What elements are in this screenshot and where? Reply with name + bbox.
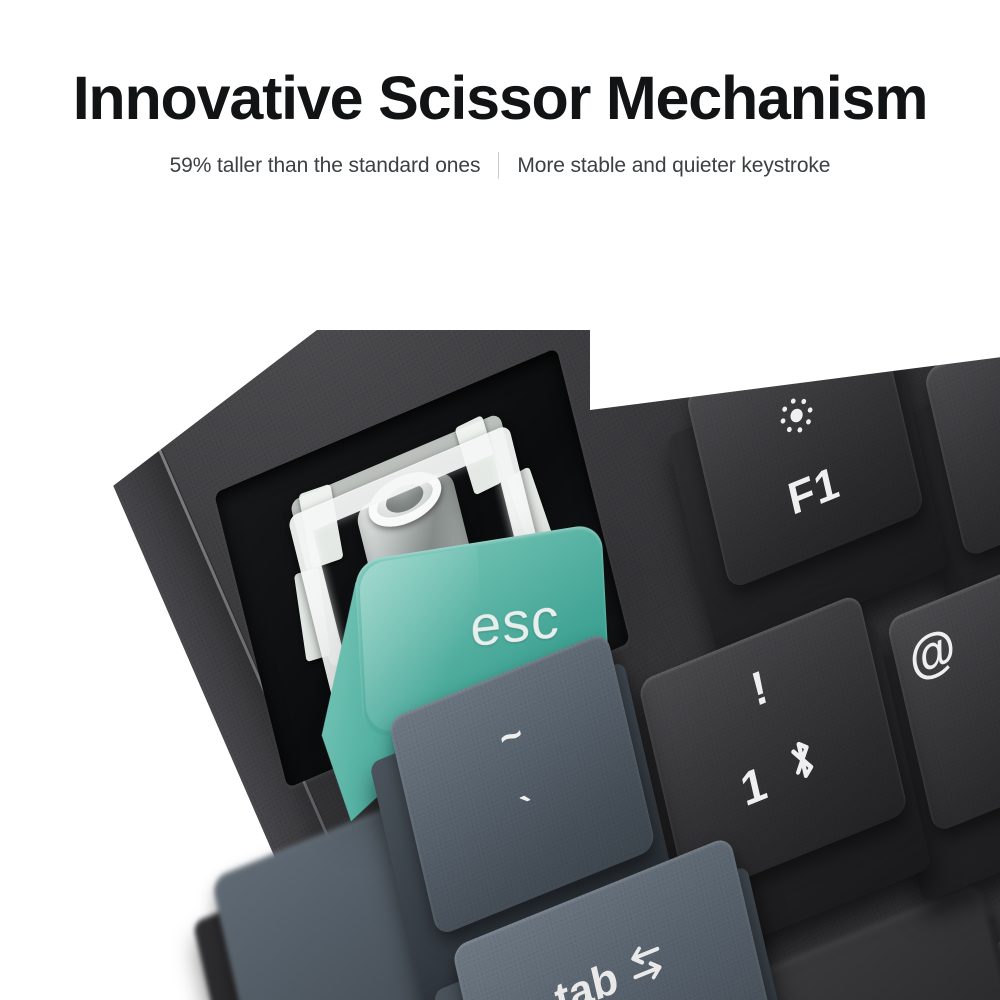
page-title: Innovative Scissor Mechanism — [0, 66, 1000, 130]
product-marketing-image: Innovative Scissor Mechanism 59% taller … — [0, 0, 1000, 1000]
bluetooth-icon — [783, 733, 823, 798]
keyboard-photo: esc — [0, 330, 1000, 1000]
subtitle-right: More stable and quieter keystroke — [499, 154, 830, 178]
subtitle-row: 59% taller than the standard ones More s… — [0, 152, 1000, 179]
subtitle-left: 59% taller than the standard ones — [170, 154, 499, 178]
key-one-label: 1 — [736, 754, 772, 817]
